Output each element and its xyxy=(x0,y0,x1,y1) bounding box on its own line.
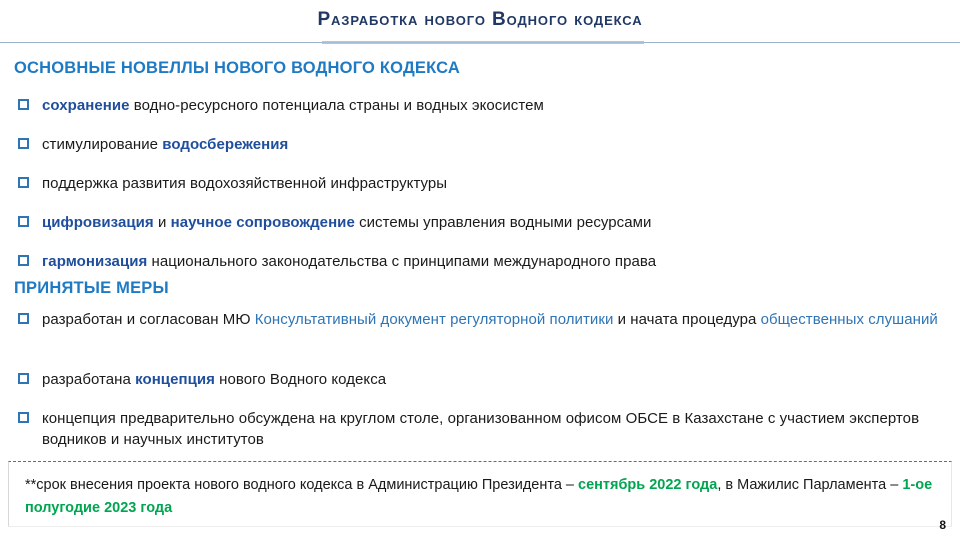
list-item-text: стимулирование водосбережения xyxy=(42,134,288,155)
square-bullet-icon xyxy=(18,373,29,384)
title-divider-accent xyxy=(322,41,644,44)
square-bullet-icon xyxy=(18,412,29,423)
section-heading-novelty: ОСНОВНЫЕ НОВЕЛЛЫ НОВОГО ВОДНОГО КОДЕКСА xyxy=(14,59,460,78)
list-item-text: концепция предварительно обсуждена на кр… xyxy=(42,408,948,450)
slide-title-bar: Разработка нового Водного кодекса xyxy=(0,0,960,44)
square-bullet-icon xyxy=(18,216,29,227)
list-item: концепция предварительно обсуждена на кр… xyxy=(18,408,948,450)
list-item: стимулирование водосбережения xyxy=(18,134,918,155)
square-bullet-icon xyxy=(18,255,29,266)
list-item: цифровизация и научное сопровождение сис… xyxy=(18,212,938,233)
footnote-text: **срок внесения проекта нового водного к… xyxy=(25,474,935,520)
list-item-text: гармонизация национального законодательс… xyxy=(42,251,656,272)
page-number: 8 xyxy=(939,518,946,532)
list-item: гармонизация национального законодательс… xyxy=(18,251,938,272)
list-item-text: поддержка развития водохозяйственной инф… xyxy=(42,173,447,194)
list-item: поддержка развития водохозяйственной инф… xyxy=(18,173,918,194)
list-item-text: цифровизация и научное сопровождение сис… xyxy=(42,212,651,233)
page-title: Разработка нового Водного кодекса xyxy=(0,0,960,40)
section-heading-measures: ПРИНЯТЫЕ МЕРЫ xyxy=(14,279,169,298)
footnote-box: **срок внесения проекта нового водного к… xyxy=(8,461,952,527)
list-item-text: сохранение водно-ресурсного потенциала с… xyxy=(42,95,544,116)
list-item: разработана концепция нового Водного код… xyxy=(18,369,918,390)
list-item: сохранение водно-ресурсного потенциала с… xyxy=(18,95,918,116)
list-item: разработан и согласован МЮ Консультативн… xyxy=(18,309,948,330)
list-item-text: разработана концепция нового Водного код… xyxy=(42,369,386,390)
list-item-text: разработан и согласован МЮ Консультативн… xyxy=(42,309,944,330)
square-bullet-icon xyxy=(18,313,29,324)
square-bullet-icon xyxy=(18,177,29,188)
square-bullet-icon xyxy=(18,99,29,110)
title-divider xyxy=(0,41,960,44)
square-bullet-icon xyxy=(18,138,29,149)
